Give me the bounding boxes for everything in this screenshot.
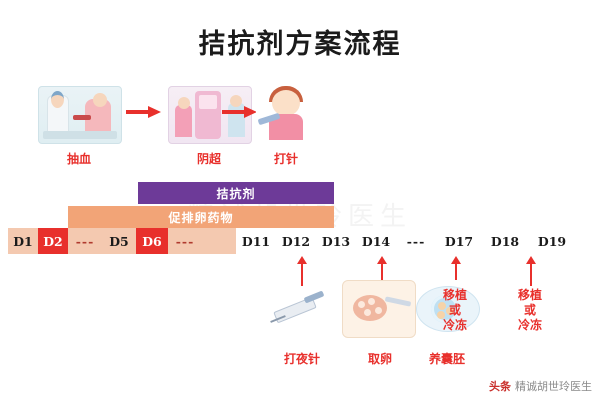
platform-label: 头条	[489, 378, 511, 394]
blood-draw-illustration	[38, 86, 122, 144]
annotation-arrow-head-transfer-1-icon	[451, 256, 461, 264]
outcome-2-line3: 冷冻	[506, 318, 554, 333]
exam-table	[43, 131, 117, 139]
day-cell: ---	[168, 228, 202, 254]
follicle-icon	[358, 301, 365, 308]
blood-tube-icon	[73, 115, 91, 120]
day-cell: ---	[68, 228, 102, 254]
step-caption-injection: 打针	[246, 150, 326, 167]
page-title: 拮抗剂方案流程	[0, 22, 600, 61]
doctor-head-icon	[230, 95, 242, 107]
arrow-tail-1	[126, 110, 148, 114]
nurse-head-icon	[51, 91, 64, 108]
annotation-arrow-head-opu-icon	[377, 256, 387, 264]
follicle-icon	[364, 309, 371, 316]
step-caption-blood-draw: 抽血	[39, 150, 119, 167]
outcome-2-line1: 移植	[506, 288, 554, 303]
annotation-arrow-head-night-shot-icon	[297, 256, 307, 264]
diagram-root: 拮抗剂方案流程 精诚胡世玲医生 抽血 阴超 打针 拮抗剂 促排卵药物 D1 D2…	[0, 0, 600, 400]
annotation-arrow-line-transfer-1	[455, 262, 457, 280]
day-cell: D12	[276, 228, 316, 254]
day-cell: D13	[316, 228, 356, 254]
day-cell: D11	[236, 228, 276, 254]
ovum-pickup-illustration	[342, 280, 416, 338]
outcome-2-line2: 或	[506, 303, 554, 318]
aspiration-needle-icon	[385, 296, 411, 306]
syringe-illustration	[270, 288, 332, 336]
day-cell: D17	[436, 228, 482, 254]
day-cell: D19	[528, 228, 576, 254]
outcome-1-line1: 移植	[431, 288, 479, 303]
day-cell: ---	[396, 228, 436, 254]
arrow-step-1-to-2-icon	[148, 106, 161, 118]
outcome-1-line3: 冷冻	[431, 318, 479, 333]
arrow-tail-2	[222, 110, 244, 114]
annotation-arrow-line-opu	[381, 262, 383, 280]
patient-figure	[175, 105, 192, 137]
day-cell: D18	[482, 228, 528, 254]
patient-head-icon	[178, 97, 190, 109]
annotation-label-blastocyst: 养囊胚	[417, 352, 477, 367]
injection-illustration	[256, 86, 316, 142]
follicle-icon	[368, 298, 375, 305]
ultrasound-screen-icon	[199, 95, 217, 109]
day-cell: D6	[136, 228, 168, 254]
day-cell: D14	[356, 228, 396, 254]
doctor-figure	[228, 103, 245, 137]
day-cell: D5	[102, 228, 136, 254]
follicle-icon	[375, 307, 382, 314]
bar-ovulation-drugs: 促排卵药物	[68, 206, 334, 228]
author-label: 精诚胡世玲医生	[515, 378, 592, 394]
day-timeline: D1 D2 --- D5 D6 --- D11 D12 D13 D14 --- …	[8, 228, 576, 254]
footer-watermark: 头条 精诚胡世玲医生	[489, 378, 592, 394]
outcome-1-line2: 或	[431, 303, 479, 318]
annotation-arrow-line-night-shot	[301, 262, 303, 286]
patient-head-icon	[93, 93, 107, 107]
day-cell: D2	[38, 228, 68, 254]
annotation-label-opu: 取卵	[352, 352, 408, 367]
ultrasound-illustration	[168, 86, 252, 144]
annotation-label-night-shot: 打夜针	[272, 352, 332, 367]
girl-head-icon	[272, 90, 300, 116]
day-cell: D1	[8, 228, 38, 254]
day-spacer	[202, 228, 236, 254]
annotation-arrow-line-transfer-2	[530, 262, 532, 286]
annotation-arrow-head-transfer-2-icon	[526, 256, 536, 264]
step-caption-ultrasound: 阴超	[169, 150, 249, 167]
bar-antagonist: 拮抗剂	[138, 182, 334, 204]
